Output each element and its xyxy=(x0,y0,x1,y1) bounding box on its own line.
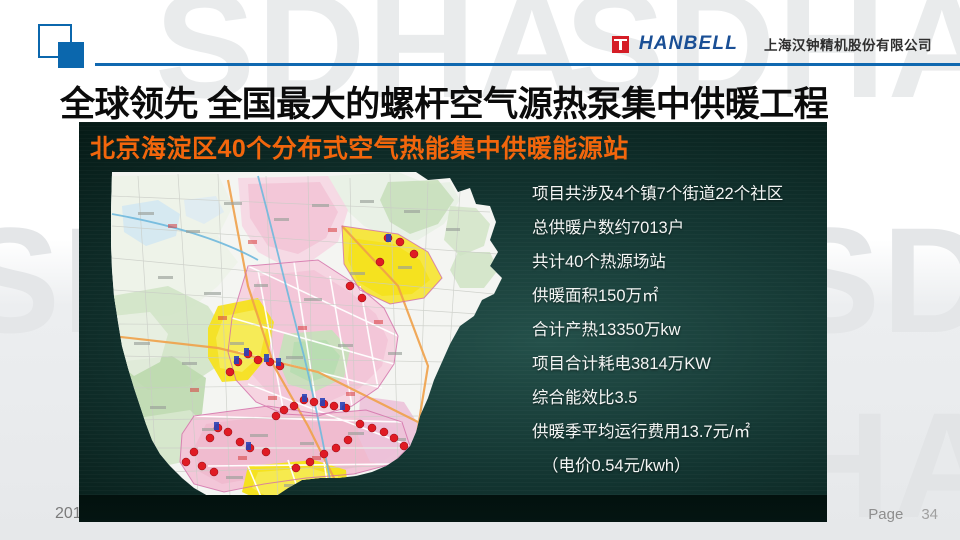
brand-lockup: HANBELL 上海汉钟精机股份有限公司 xyxy=(612,33,932,55)
brand-wordmark: HANBELL xyxy=(639,33,738,55)
list-item: 合计产热13350万kw xyxy=(532,313,822,347)
panel-banner-heading: 北京海淀区40个分布式空气热能集中供暖能源站 xyxy=(90,129,629,165)
list-item: 供暖面积150万㎡ xyxy=(532,279,822,313)
beijing-haidian-district-map xyxy=(98,166,528,516)
brand-company-name: 上海汉钟精机股份有限公司 xyxy=(764,34,932,54)
panel-footer-overlap xyxy=(79,495,827,522)
list-item: 供暖季平均运行费用13.7元/㎡ xyxy=(532,415,822,449)
blue-double-square-decoration-icon xyxy=(38,24,86,68)
footer-page: Page 34 xyxy=(868,506,938,523)
list-item: 综合能效比3.5 xyxy=(532,381,822,415)
content-panel: 北京海淀区40个分布式空气热能集中供暖能源站 xyxy=(79,122,827,522)
list-item: 共计40个热源场站 xyxy=(532,245,822,279)
page-number: 34 xyxy=(921,506,938,523)
slide-canvas: SDHA SDHA SDHA SDHA SDHA SDHA SDHA HANBE… xyxy=(0,0,960,540)
map-svg xyxy=(98,166,528,516)
project-stats-list: 项目共涉及4个镇7个街道22个社区 总供暖户数约7013户 共计40个热源场站 … xyxy=(532,177,822,483)
list-item: 总供暖户数约7013户 xyxy=(532,211,822,245)
list-item: 项目共涉及4个镇7个街道22个社区 xyxy=(532,177,822,211)
header-divider xyxy=(95,63,960,66)
list-item: （电价0.54元/kwh） xyxy=(532,449,822,483)
list-item: 项目合计耗电3814万KW xyxy=(532,347,822,381)
hanbell-logo-mark-icon xyxy=(612,36,629,53)
page-title: 全球领先 全国最大的螺杆空气源热泵集中供暖工程 xyxy=(60,76,940,120)
square-solid-icon xyxy=(58,42,84,68)
page-label: Page xyxy=(868,506,903,523)
